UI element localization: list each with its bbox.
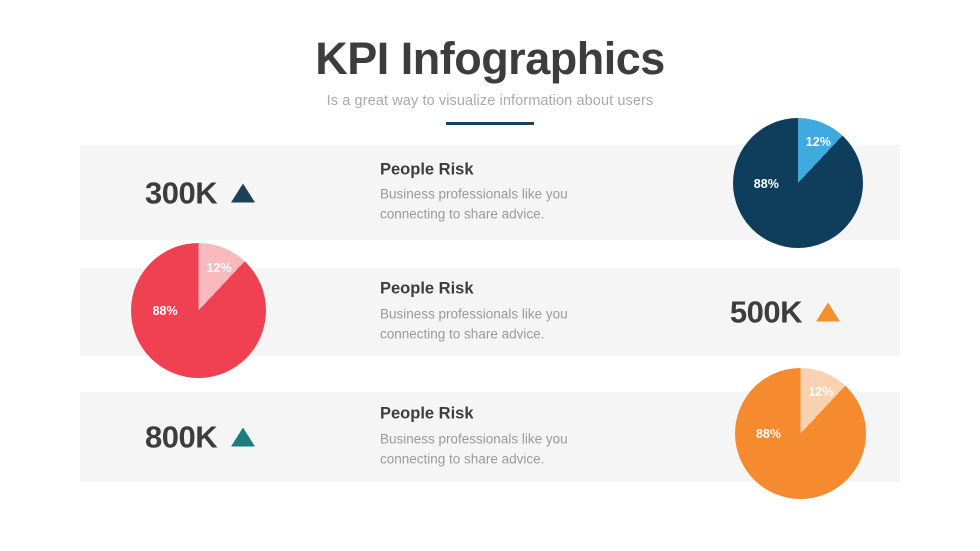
kpi-row-text-slot: People Risk Business professionals like … — [380, 392, 600, 482]
block-desc-line1: Business professionals like you — [380, 429, 610, 449]
kpi-row-text-slot: People Risk Business professionals like … — [380, 145, 600, 240]
page-title: KPI Infographics — [0, 0, 980, 81]
page-subtitle: Is a great way to visualize information … — [0, 81, 980, 109]
kpi-metric: 500K — [730, 297, 840, 328]
trend-up-triangle-icon — [816, 303, 840, 322]
trend-up-triangle-icon — [231, 428, 255, 447]
divider-wrap — [0, 109, 980, 125]
kpi-row-left-slot: 800K — [80, 392, 380, 482]
text-block: People Risk Business professionals like … — [380, 405, 610, 470]
pie-minor-label: 12% — [806, 135, 831, 149]
block-title: People Risk — [380, 160, 610, 180]
block-desc-line2: connecting to share advice. — [380, 205, 610, 225]
kpi-value: 300K — [145, 177, 217, 208]
kpi-value: 800K — [145, 422, 217, 453]
pie-major-label: 88% — [756, 427, 781, 441]
block-desc-line2: connecting to share advice. — [380, 324, 610, 344]
kpi-row-left-slot: 300K — [80, 145, 380, 240]
block-title: People Risk — [380, 405, 610, 425]
block-title: People Risk — [380, 280, 610, 300]
block-desc-line1: Business professionals like you — [380, 304, 610, 324]
pie-minor-label: 12% — [808, 385, 833, 399]
kpi-row-right-slot: 500K — [600, 268, 900, 356]
text-block: People Risk Business professionals like … — [380, 160, 610, 225]
trend-up-triangle-icon — [231, 183, 255, 202]
pie-major-label: 88% — [754, 177, 779, 191]
page-header: KPI Infographics Is a great way to visua… — [0, 0, 980, 125]
kpi-row-text-slot: People Risk Business professionals like … — [380, 268, 600, 356]
kpi-value: 500K — [730, 297, 802, 328]
pie-major-label: 88% — [153, 304, 178, 318]
text-block: People Risk Business professionals like … — [380, 280, 610, 345]
pie-minor-label: 12% — [207, 261, 232, 275]
block-desc-line1: Business professionals like you — [380, 185, 610, 205]
block-desc-line2: connecting to share advice. — [380, 449, 610, 469]
pie-chart: 88% 12% — [733, 118, 863, 248]
pie-chart: 88% 12% — [131, 243, 266, 378]
kpi-metric: 300K — [145, 177, 255, 208]
pie-chart: 88% 12% — [735, 368, 866, 499]
title-divider — [446, 122, 534, 125]
kpi-metric: 800K — [145, 422, 255, 453]
